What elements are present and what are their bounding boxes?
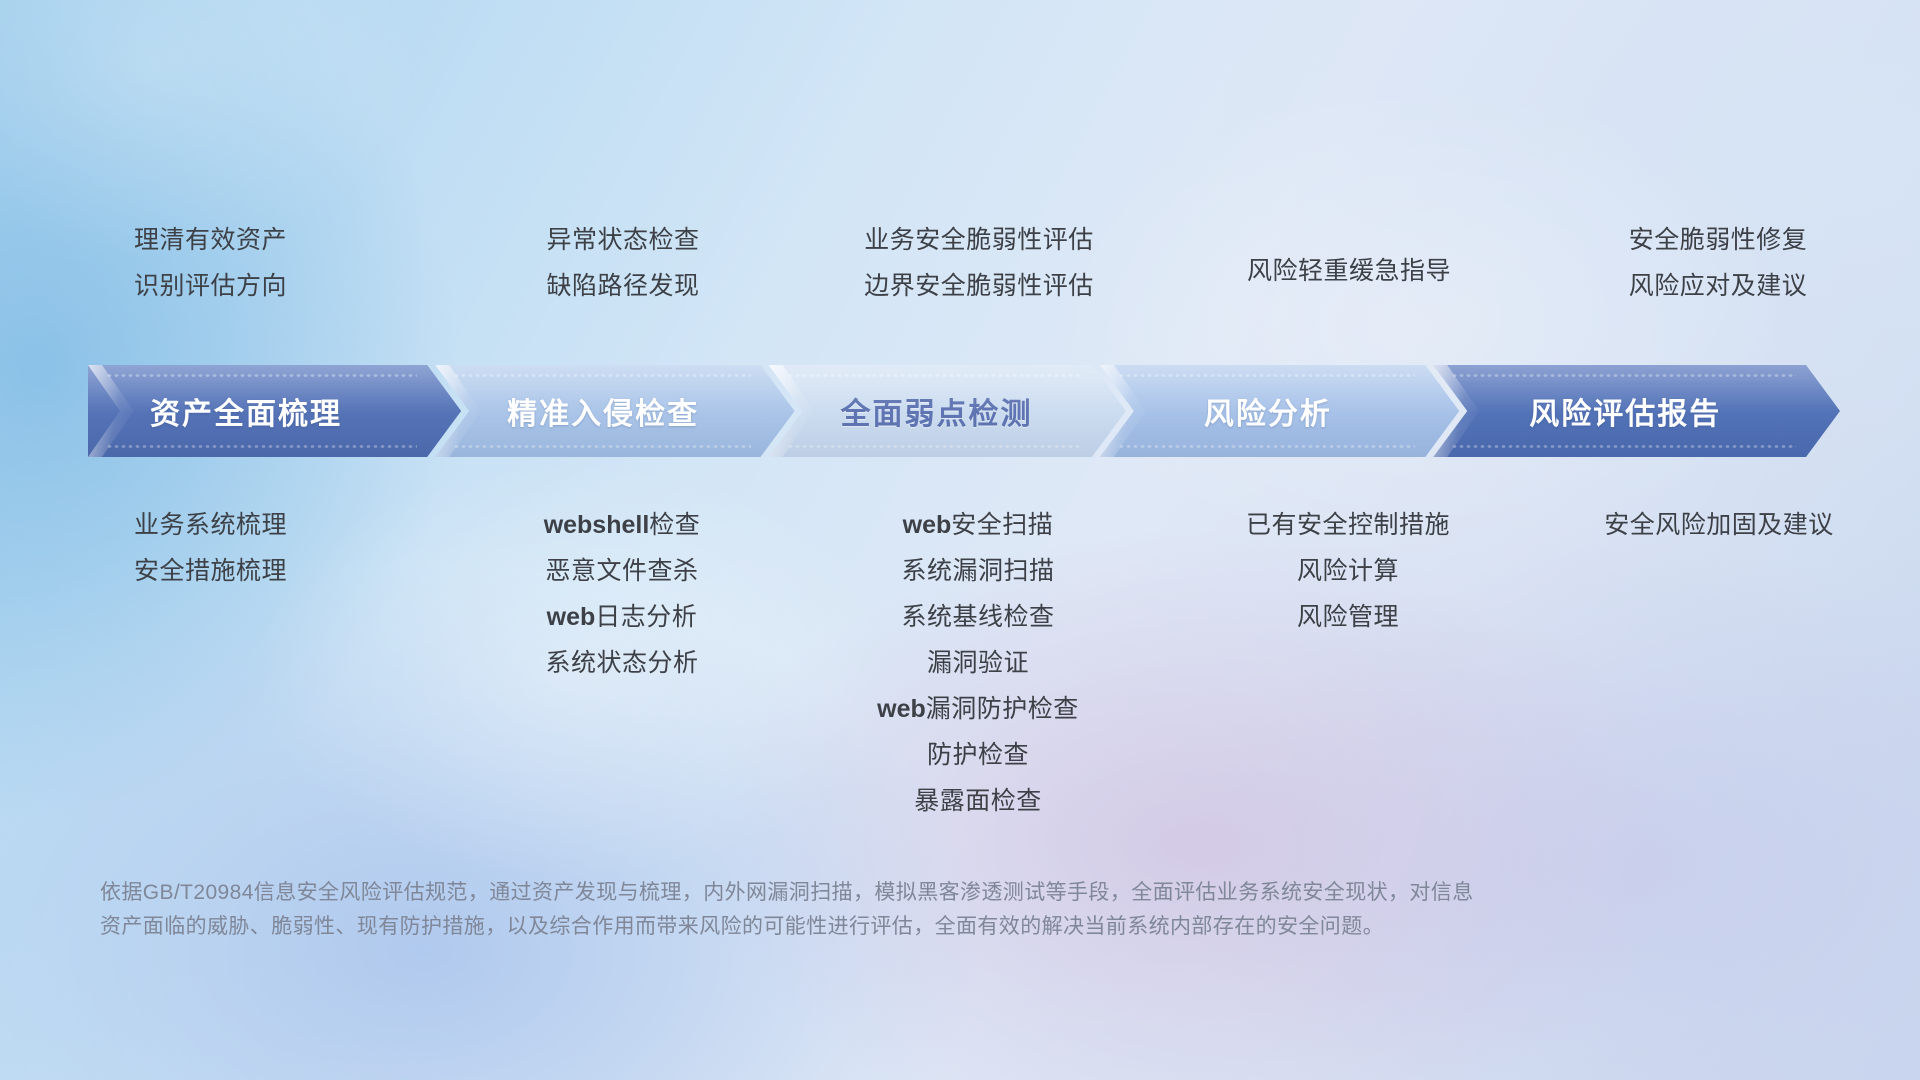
- dot-pattern-bottom: [1118, 444, 1415, 449]
- bottom-item: 风险计算: [1297, 556, 1399, 586]
- top-captions-stage-4: 风险轻重缓急指导: [1158, 225, 1534, 317]
- footer-line: 资产面临的威胁、脆弱性、现有防护措施，以及综合作用而带来风险的可能性进行评估，全…: [100, 910, 1660, 944]
- top-caption: 风险轻重缓急指导: [1247, 256, 1451, 286]
- top-captions-stage-2: 异常状态检查 缺陷路径发现: [462, 225, 810, 301]
- top-caption: 风险应对及建议: [1629, 271, 1808, 301]
- top-captions-stage-3: 业务安全脆弱性评估 边界安全脆弱性评估: [810, 225, 1158, 301]
- process-chevron-banner: 资产全面梳理 精准入侵检查 全面弱点检测 风险分析: [88, 365, 1840, 457]
- top-caption: 缺陷路径发现: [546, 271, 699, 301]
- bottom-item: 系统状态分析: [545, 648, 698, 678]
- chevron-label: 精准入侵检查: [435, 389, 699, 433]
- top-captions-row: 理清有效资产 识别评估方向 异常状态检查 缺陷路径发现 业务安全脆弱性评估 边界…: [96, 225, 1896, 317]
- bottom-captions-stage-1: 业务系统梳理 安全措施梳理: [96, 510, 462, 586]
- dot-pattern-bottom: [106, 444, 417, 449]
- bottom-captions-stage-4: 已有安全控制措施 风险计算 风险管理: [1158, 510, 1534, 632]
- bottom-item: 业务系统梳理: [134, 510, 287, 540]
- footer-line: 依据GB/T20984信息安全风险评估规范，通过资产发现与梳理，内外网漏洞扫描，…: [100, 876, 1660, 910]
- top-caption: 业务安全脆弱性评估: [864, 225, 1094, 255]
- dot-pattern-bottom: [787, 444, 1082, 449]
- dot-pattern-bottom: [1451, 444, 1796, 449]
- dot-pattern-bottom: [453, 444, 750, 449]
- slide-canvas: 理清有效资产 识别评估方向 异常状态检查 缺陷路径发现 业务安全脆弱性评估 边界…: [0, 0, 1920, 1080]
- footer-description: 依据GB/T20984信息安全风险评估规范，通过资产发现与梳理，内外网漏洞扫描，…: [100, 876, 1660, 944]
- chevron-label: 风险分析: [1100, 389, 1332, 433]
- chevron-stage-2[interactable]: 精准入侵检查: [435, 365, 794, 457]
- chevron-label: 全面弱点检测: [769, 389, 1033, 433]
- bottom-item: 恶意文件查杀: [545, 556, 698, 586]
- bottom-item: 系统漏洞扫描: [901, 556, 1054, 586]
- dot-pattern-top: [1118, 373, 1415, 378]
- bottom-item: 系统基线检查: [901, 602, 1054, 632]
- bottom-captions-row: 业务系统梳理 安全措施梳理 webshell检查 恶意文件查杀 web日志分析 …: [96, 510, 1896, 816]
- chevron-stage-4[interactable]: 风险分析: [1100, 365, 1459, 457]
- bottom-item: 漏洞验证: [927, 648, 1029, 678]
- bottom-item: web日志分析: [547, 602, 698, 632]
- top-caption: 异常状态检查: [546, 225, 699, 255]
- bottom-captions-stage-5: 安全风险加固及建议: [1534, 510, 1896, 540]
- bottom-captions-stage-2: webshell检查 恶意文件查杀 web日志分析 系统状态分析: [462, 510, 810, 678]
- chevron-label: 风险评估报告: [1433, 389, 1721, 433]
- bottom-item: webshell检查: [544, 510, 701, 540]
- bottom-item: web安全扫描: [903, 510, 1054, 540]
- dot-pattern-top: [1451, 373, 1796, 378]
- top-caption: 边界安全脆弱性评估: [864, 271, 1094, 301]
- dot-pattern-top: [453, 373, 750, 378]
- bottom-item: 暴露面检查: [914, 786, 1042, 816]
- bottom-captions-stage-3: web安全扫描 系统漏洞扫描 系统基线检查 漏洞验证 web漏洞防护检查 防护检…: [810, 510, 1158, 816]
- bottom-item: web漏洞防护检查: [877, 694, 1079, 724]
- top-caption: 识别评估方向: [134, 271, 287, 301]
- top-caption: 安全脆弱性修复: [1629, 225, 1808, 255]
- bottom-item: 安全措施梳理: [134, 556, 287, 586]
- chevron-stage-1[interactable]: 资产全面梳理: [88, 365, 461, 457]
- top-captions-stage-5: 安全脆弱性修复 风险应对及建议: [1534, 225, 1896, 301]
- chevron-stage-3[interactable]: 全面弱点检测: [769, 365, 1126, 457]
- chevron-label: 资产全面梳理: [88, 389, 342, 433]
- top-caption: 理清有效资产: [134, 225, 287, 255]
- bottom-item: 已有安全控制措施: [1246, 510, 1450, 540]
- top-captions-stage-1: 理清有效资产 识别评估方向: [96, 225, 462, 301]
- dot-pattern-top: [787, 373, 1082, 378]
- bottom-item: 防护检查: [927, 740, 1029, 770]
- chevron-stage-5[interactable]: 风险评估报告: [1433, 365, 1840, 457]
- bottom-item: 风险管理: [1297, 602, 1399, 632]
- bottom-item: 安全风险加固及建议: [1604, 510, 1834, 540]
- dot-pattern-top: [106, 373, 417, 378]
